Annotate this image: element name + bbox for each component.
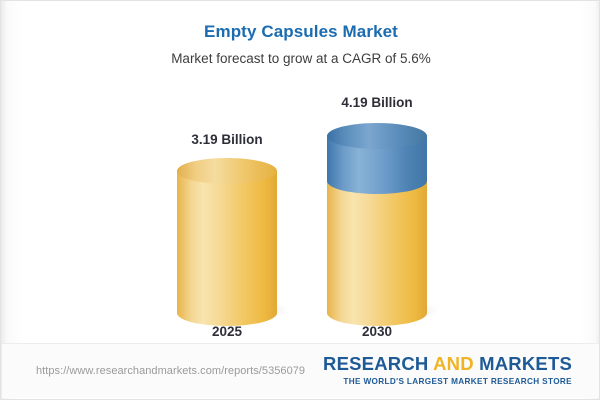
- footer-bar: https://www.researchandmarkets.com/repor…: [2, 343, 600, 398]
- logo-wordmark: RESEARCH AND MARKETS: [323, 353, 572, 375]
- page-title: Empty Capsules Market: [1, 21, 600, 43]
- bar-value-label: 3.19 Billion: [157, 131, 297, 149]
- bar-category-label: 2025: [157, 323, 297, 341]
- logo-word-and: AND: [433, 353, 474, 374]
- bar-group-2025: 3.19 Billion 2025: [157, 86, 297, 341]
- infographic-card: Empty Capsules Market Market forecast to…: [0, 0, 600, 400]
- logo-word-research: RESEARCH: [323, 353, 428, 374]
- cylinder-bar-2025: [177, 158, 277, 313]
- research-and-markets-logo[interactable]: RESEARCH AND MARKETS THE WORLD'S LARGEST…: [323, 353, 572, 387]
- cylinder-top-ellipse: [327, 123, 427, 149]
- cylinder-top-ellipse: [177, 158, 277, 184]
- logo-word-markets: MARKETS: [479, 353, 572, 374]
- chart-plot-area: 3.19 Billion 2025 4.19 Billion: [1, 86, 600, 341]
- bar-segment-base: [177, 158, 277, 313]
- chart-subtitle: Market forecast to grow at a CAGR of 5.6…: [1, 50, 600, 68]
- source-url[interactable]: https://www.researchandmarkets.com/repor…: [36, 364, 305, 378]
- logo-tagline: THE WORLD'S LARGEST MARKET RESEARCH STOR…: [323, 376, 572, 387]
- cylinder-bar-2030: [327, 123, 427, 313]
- bar-segment-growth: [327, 123, 427, 181]
- bar-value-label: 4.19 Billion: [307, 94, 447, 112]
- chart-header: Empty Capsules Market Market forecast to…: [1, 21, 600, 68]
- bar-category-label: 2030: [307, 323, 447, 341]
- segment-bottom-ellipse: [327, 168, 427, 194]
- bar-group-2030: 4.19 Billion 2030: [307, 86, 447, 341]
- segment-body: [177, 171, 277, 313]
- segment-body: [327, 181, 427, 313]
